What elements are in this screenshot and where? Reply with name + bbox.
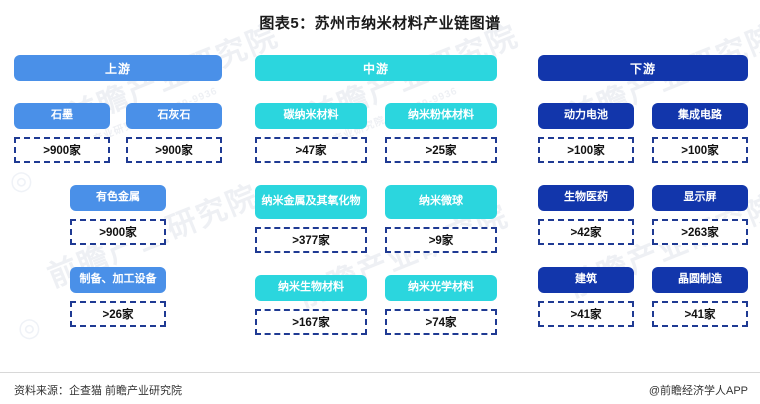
footer: 资料来源：企查猫 前瞻产业研究院 @前瞻经济学人APP (0, 372, 760, 404)
node-row: 纳米金属及其氧化物 >377家 纳米微球 >9家 (255, 185, 497, 253)
node-label: 碳纳米材料 (255, 103, 367, 129)
node-label: 有色金属 (70, 185, 166, 211)
node-count: >42家 (538, 219, 634, 245)
footer-source: 资料来源：企查猫 前瞻产业研究院 (14, 382, 182, 398)
node-label: 制备、加工设备 (70, 267, 166, 293)
node-count: >377家 (255, 227, 367, 253)
chain-node[interactable]: 制备、加工设备 >26家 (70, 267, 166, 327)
chain-node[interactable]: 纳米光学材料 >74家 (385, 275, 497, 335)
node-label: 石灰石 (126, 103, 222, 129)
node-row: 生物医药 >42家 显示屏 >263家 (538, 185, 748, 245)
chain-node[interactable]: 纳米粉体材料 >25家 (385, 103, 497, 163)
chain-node[interactable]: 生物医药 >42家 (538, 185, 634, 245)
node-count: >900家 (70, 219, 166, 245)
node-label: 纳米微球 (385, 185, 497, 219)
chain-node[interactable]: 纳米金属及其氧化物 >377家 (255, 185, 367, 253)
node-count: >167家 (255, 309, 367, 335)
industry-chain-chart: 前瞻产业研究院 前瞻产业研究院 400-639-9936 前瞻产业研究院 前瞻产… (0, 0, 760, 404)
node-count: >100家 (538, 137, 634, 163)
node-count: >100家 (652, 137, 748, 163)
node-count: >900家 (14, 137, 110, 163)
node-label: 纳米粉体材料 (385, 103, 497, 129)
node-label: 集成电路 (652, 103, 748, 129)
node-row: 石墨 >900家 石灰石 >900家 (14, 103, 222, 163)
chain-node[interactable]: 纳米生物材料 >167家 (255, 275, 367, 335)
column-header-midstream: 中游 (255, 55, 497, 81)
column-header-upstream: 上游 (14, 55, 222, 81)
chain-node[interactable]: 集成电路 >100家 (652, 103, 748, 163)
node-count: >41家 (652, 301, 748, 327)
chain-node[interactable]: 动力电池 >100家 (538, 103, 634, 163)
column-header-downstream: 下游 (538, 55, 748, 81)
chain-node[interactable]: 石灰石 >900家 (126, 103, 222, 163)
chain-node[interactable]: 显示屏 >263家 (652, 185, 748, 245)
node-count: >26家 (70, 301, 166, 327)
node-label: 石墨 (14, 103, 110, 129)
chain-node[interactable]: 建筑 >41家 (538, 267, 634, 327)
node-row: 建筑 >41家 晶圆制造 >41家 (538, 267, 748, 327)
footer-app-credit: @前瞻经济学人APP (649, 382, 748, 398)
node-row: 动力电池 >100家 集成电路 >100家 (538, 103, 748, 163)
node-count: >900家 (126, 137, 222, 163)
node-count: >47家 (255, 137, 367, 163)
column-upstream: 上游 石墨 >900家 石灰石 >900家 有色金属 >900家 制备、加工设备… (14, 55, 222, 327)
chain-node[interactable]: 碳纳米材料 >47家 (255, 103, 367, 163)
chain-node[interactable]: 石墨 >900家 (14, 103, 110, 163)
node-row: 纳米生物材料 >167家 纳米光学材料 >74家 (255, 275, 497, 335)
node-row: 碳纳米材料 >47家 纳米粉体材料 >25家 (255, 103, 497, 163)
chart-title: 图表5：苏州市纳米材料产业链图谱 (0, 12, 760, 33)
node-label: 生物医药 (538, 185, 634, 211)
node-label: 显示屏 (652, 185, 748, 211)
chain-node[interactable]: 纳米微球 >9家 (385, 185, 497, 253)
chain-node[interactable]: 晶圆制造 >41家 (652, 267, 748, 327)
chain-node[interactable]: 有色金属 >900家 (70, 185, 166, 245)
node-count: >25家 (385, 137, 497, 163)
node-label: 建筑 (538, 267, 634, 293)
node-count: >74家 (385, 309, 497, 335)
node-count: >9家 (385, 227, 497, 253)
column-midstream: 中游 碳纳米材料 >47家 纳米粉体材料 >25家 纳米金属及其氧化物 >377… (255, 55, 497, 335)
node-count: >41家 (538, 301, 634, 327)
node-row: 有色金属 >900家 (14, 185, 222, 245)
column-downstream: 下游 动力电池 >100家 集成电路 >100家 生物医药 >42家 显示屏 >… (538, 55, 748, 327)
node-label: 晶圆制造 (652, 267, 748, 293)
node-count: >263家 (652, 219, 748, 245)
node-row: 制备、加工设备 >26家 (14, 267, 222, 327)
node-label: 动力电池 (538, 103, 634, 129)
node-label: 纳米金属及其氧化物 (255, 185, 367, 219)
node-label: 纳米生物材料 (255, 275, 367, 301)
node-label: 纳米光学材料 (385, 275, 497, 301)
